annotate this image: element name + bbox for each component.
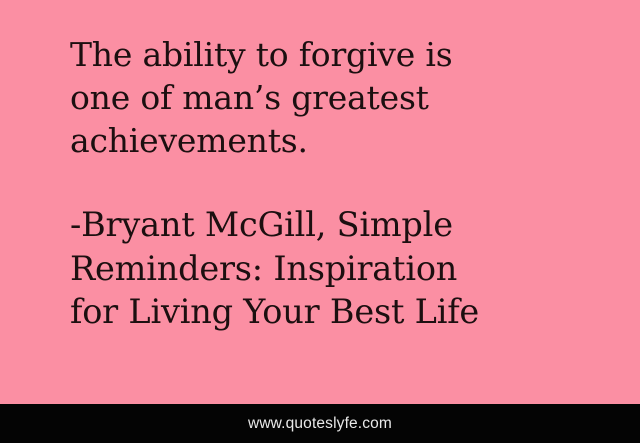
quote-card: The ability to forgive is one of man’s g… <box>0 0 640 443</box>
quote-text: The ability to forgive is one of man’s g… <box>70 33 590 162</box>
quote-content-area: The ability to forgive is one of man’s g… <box>70 33 590 334</box>
website-url-label[interactable]: www.quoteslyfe.com <box>248 416 392 432</box>
quote-attribution: -Bryant McGill, Simple Reminders: Inspir… <box>70 203 590 334</box>
footer-bar: www.quoteslyfe.com <box>0 404 640 443</box>
